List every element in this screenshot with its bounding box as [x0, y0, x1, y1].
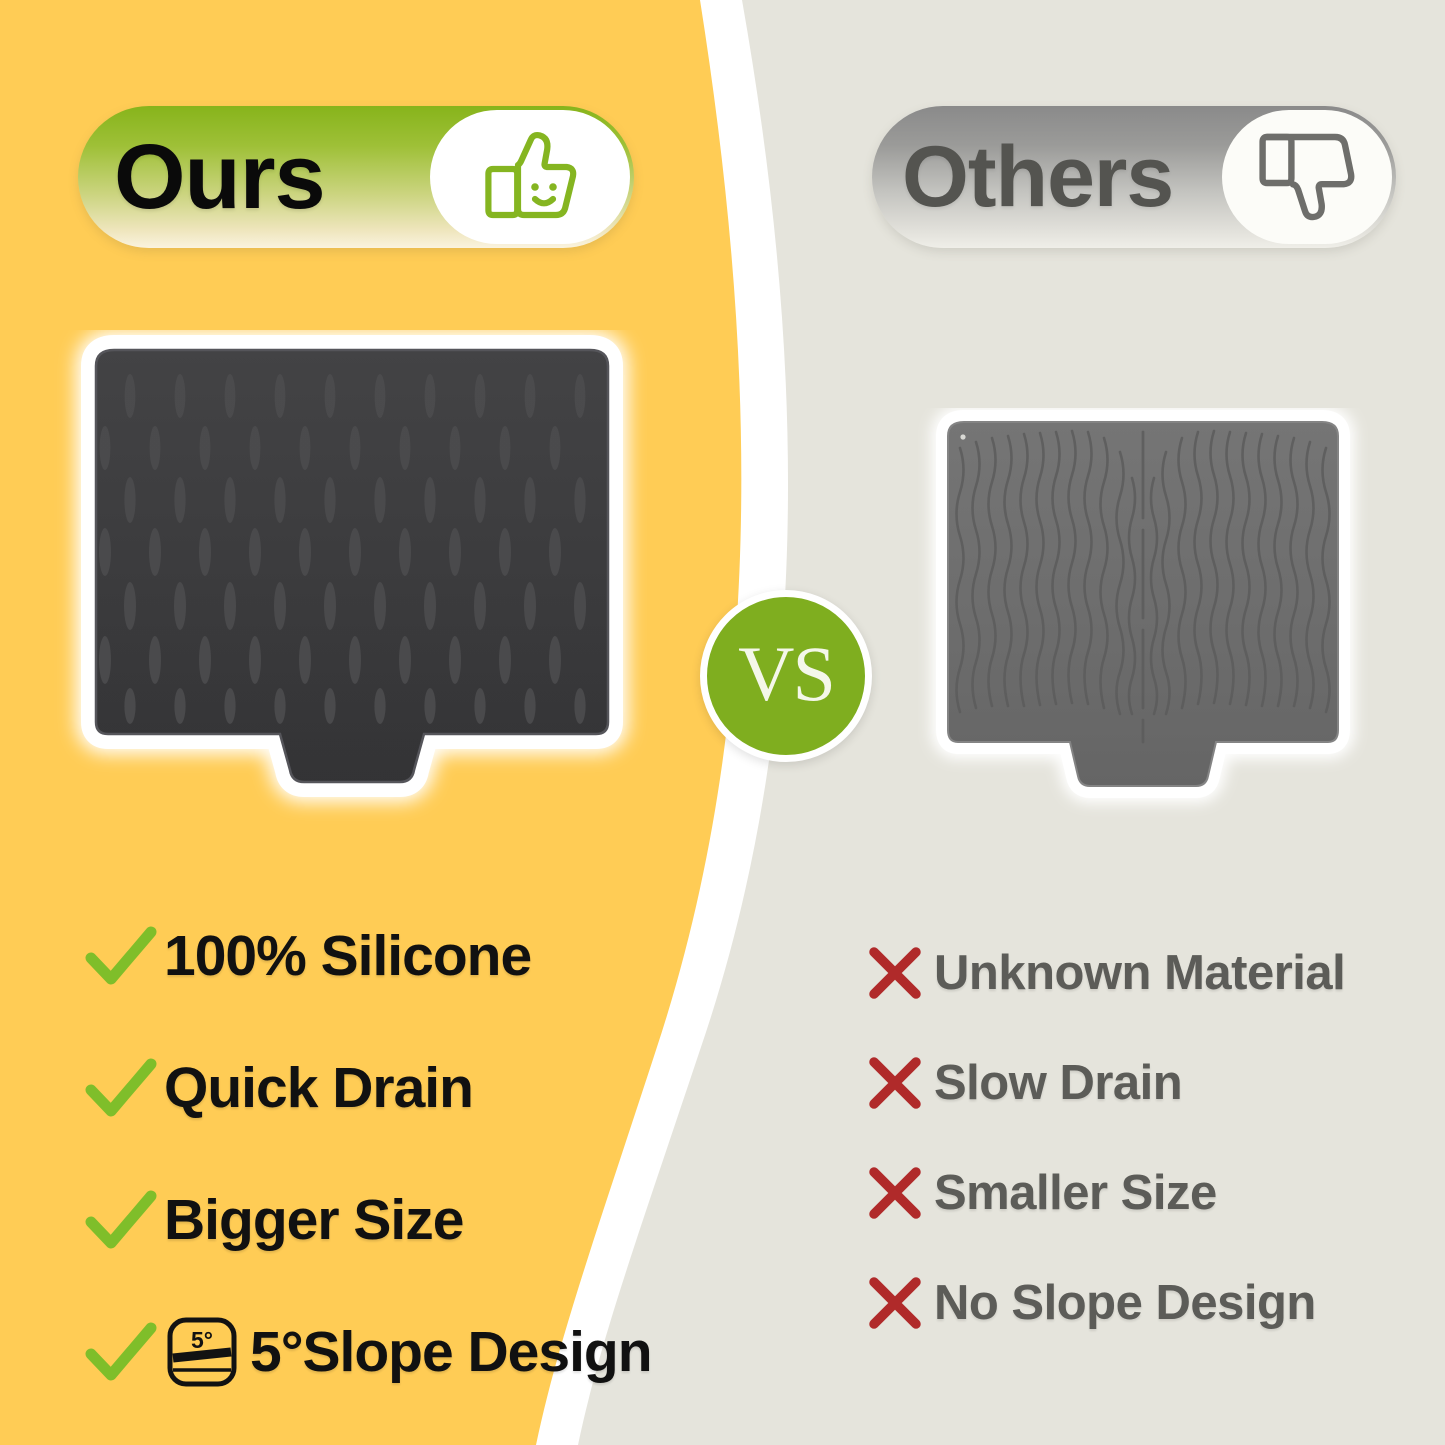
others-badge-label: Others	[902, 128, 1173, 227]
ours-product-image	[52, 330, 652, 850]
check-icon	[78, 1189, 164, 1251]
cross-icon	[856, 1054, 934, 1112]
others-product-image	[918, 408, 1368, 838]
others-mat-logo-dot	[960, 434, 965, 439]
cross-icon	[856, 1164, 934, 1222]
list-item: Slow Drain	[856, 1028, 1436, 1138]
check-icon	[78, 1057, 164, 1119]
feature-label: Quick Drain	[164, 1055, 473, 1121]
thumbs-up-smiley-icon	[476, 125, 584, 230]
check-icon	[78, 1321, 164, 1383]
list-item: Smaller Size	[856, 1138, 1436, 1248]
vs-label: VS	[738, 635, 834, 713]
list-item: Unknown Material	[856, 918, 1436, 1028]
ours-badge-icon-pill	[430, 110, 630, 244]
thumbs-down-icon	[1255, 125, 1359, 230]
comparison-infographic: Ours Others	[0, 0, 1445, 1445]
cross-icon	[856, 1274, 934, 1332]
check-icon	[78, 925, 164, 987]
list-item: Bigger Size	[78, 1154, 738, 1286]
vs-badge: VS	[700, 590, 872, 762]
cross-icon	[856, 944, 934, 1002]
feature-label: No Slope Design	[934, 1275, 1316, 1331]
ours-badge: Ours	[78, 106, 634, 248]
feature-label: Slow Drain	[934, 1055, 1182, 1111]
ours-badge-label: Ours	[114, 125, 325, 230]
slope-5-degree-icon: 5°	[164, 1314, 240, 1390]
feature-label: Smaller Size	[934, 1165, 1217, 1221]
list-item: Quick Drain	[78, 1022, 738, 1154]
others-badge: Others	[872, 106, 1396, 248]
feature-label: 5°Slope Design	[250, 1319, 652, 1385]
feature-label: Bigger Size	[164, 1187, 463, 1253]
list-item: No Slope Design	[856, 1248, 1436, 1358]
list-item: 5° 5°Slope Design	[78, 1286, 738, 1418]
list-item: 100% Silicone	[78, 890, 738, 1022]
others-feature-list: Unknown Material Slow Drain Smaller Size	[856, 918, 1436, 1358]
ours-mat-texture	[52, 330, 652, 850]
feature-label: Unknown Material	[934, 945, 1345, 1001]
slope-icon-label: 5°	[191, 1327, 213, 1353]
feature-label: 100% Silicone	[164, 923, 531, 989]
others-badge-icon-pill	[1222, 110, 1392, 244]
ours-feature-list: 100% Silicone Quick Drain Bigger Size	[78, 890, 738, 1418]
